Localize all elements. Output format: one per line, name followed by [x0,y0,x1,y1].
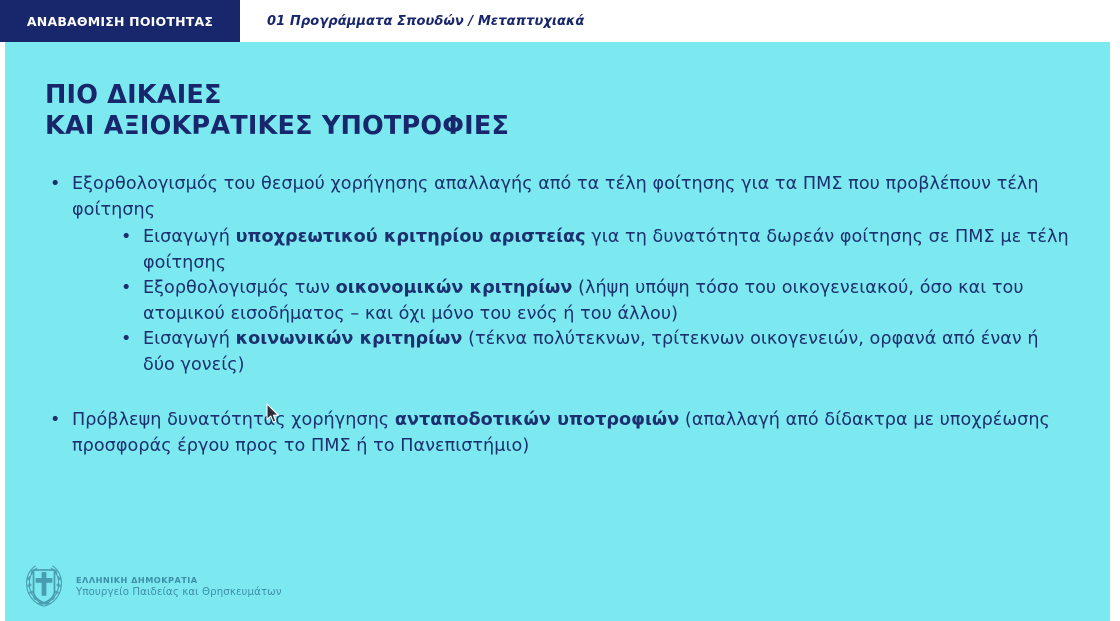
footer-text-block: ΕΛΛΗΝΙΚΗ ΔΗΜΟΚΡΑΤΙΑ Υπουργείο Παιδείας κ… [76,575,282,598]
footer-ministry: Υπουργείο Παιδείας και Θρησκευμάτων [76,587,282,598]
sub-bullet-item: • Εισαγωγή υποχρεωτικού κριτηρίου αριστε… [117,225,1075,276]
sub-bullet-list: • Εισαγωγή υποχρεωτικού κριτηρίου αριστε… [45,225,1075,378]
breadcrumb-label: 01 Προγράμματα Σπουδών / Μεταπτυχιακά [267,14,584,29]
bullet-text-bold: ανταποδοτικών υποτροφιών [395,410,679,430]
bullet-glyph: • [121,225,131,251]
bullet-text: Εξορθολογισμός του θεσμού χορήγησης απαλ… [72,174,1039,220]
footer-branding: ΕΛΛΗΝΙΚΗ ΔΗΜΟΚΡΑΤΙΑ Υπουργείο Παιδείας κ… [23,563,282,609]
greek-coat-of-arms-icon [23,563,65,609]
header-section-tab-label: ΑΝΑΒΑΘΜΙΣΗ ΠΟΙΟΤΗΤΑΣ [27,14,213,29]
slide-body: ΠΙΟ ΔΙΚΑΙΕΣ ΚΑΙ ΑΞΙΟΚΡΑΤΙΚΕΣ ΥΠΟΤΡΟΦΙΕΣ … [5,42,1110,621]
bullet-spacer [45,378,1075,407]
breadcrumb[interactable]: 01 Προγράμματα Σπουδών / Μεταπτυχιακά [240,0,1110,42]
sub-bullet-text-bold: υποχρεωτικού κριτηρίου αριστείας [236,227,586,247]
bullet-glyph: • [121,327,131,353]
sub-bullet-item: • Εξορθολογισμός των οικονομικών κριτηρί… [117,276,1075,327]
bullet-text-before: Πρόβλεψη δυνατότητας χορήγησης [72,410,395,430]
page-title: ΠΙΟ ΔΙΚΑΙΕΣ ΚΑΙ ΑΞΙΟΚΡΑΤΙΚΕΣ ΥΠΟΤΡΟΦΙΕΣ [45,80,509,142]
sub-bullet-text-before: Εξορθολογισμός των [143,278,336,298]
bullet-glyph: • [50,407,60,433]
bullet-glyph: • [121,276,131,302]
sub-bullet-text-before: Εισαγωγή [143,227,236,247]
sub-bullet-text-bold: κοινωνικών κριτηρίων [236,329,463,349]
header-section-tab[interactable]: ΑΝΑΒΑΘΜΙΣΗ ΠΟΙΟΤΗΤΑΣ [0,0,240,42]
slide-header: ΑΝΑΒΑΘΜΙΣΗ ΠΟΙΟΤΗΤΑΣ 01 Προγράμματα Σπου… [0,0,1110,42]
sub-bullet-item: • Εισαγωγή κοινωνικών κριτηρίων (τέκνα π… [117,327,1075,378]
page-title-line-2: ΚΑΙ ΑΞΙΟΚΡΑΤΙΚΕΣ ΥΠΟΤΡΟΦΙΕΣ [45,111,509,142]
sub-bullet-text-before: Εισαγωγή [143,329,236,349]
bullet-item: • Εξορθολογισμός του θεσμού χορήγησης απ… [45,171,1075,223]
bullet-glyph: • [50,171,60,197]
presentation-slide: ΑΝΑΒΑΘΜΙΣΗ ΠΟΙΟΤΗΤΑΣ 01 Προγράμματα Σπου… [0,0,1120,621]
page-title-line-1: ΠΙΟ ΔΙΚΑΙΕΣ [45,80,509,111]
footer-organisation: ΕΛΛΗΝΙΚΗ ΔΗΜΟΚΡΑΤΙΑ [76,575,282,585]
bullet-content: • Εξορθολογισμός του θεσμού χορήγησης απ… [45,171,1075,459]
sub-bullet-text-bold: οικονομικών κριτηρίων [336,278,573,298]
bullet-item: • Πρόβλεψη δυνατότητας χορήγησης ανταποδ… [45,407,1075,459]
